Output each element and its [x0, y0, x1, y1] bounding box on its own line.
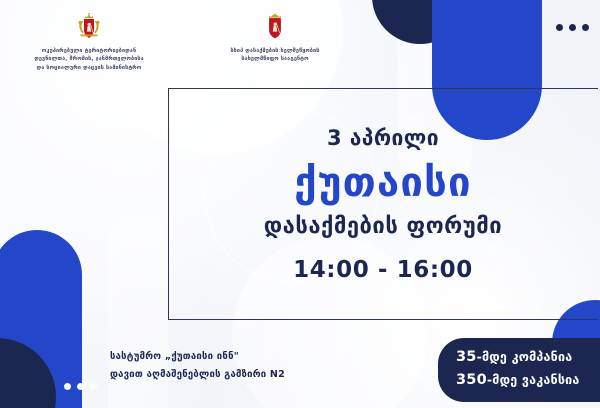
- event-time: 14:00 - 16:00: [293, 257, 473, 283]
- venue-street: დავით აღმაშენებლის გამზირი N2: [110, 366, 285, 384]
- dot: [582, 24, 589, 31]
- event-date: 3 აპრილი: [327, 126, 439, 150]
- vacancies-stat: 350-მდე ვაკანსია: [456, 369, 600, 392]
- stats-badge: 35-მდე კომპანია 350-მდე ვაკანსია: [438, 338, 600, 402]
- companies-label: -მდე კომპანია: [477, 349, 573, 364]
- three-dots-bottom-left-icon: [64, 383, 97, 390]
- ministry-name: ოკუპირებული ტერიტორიებიდან დევნილთა, შრო…: [14, 47, 164, 72]
- dot: [90, 383, 97, 390]
- ministry-name-line-3: და სოციალური დაცვის სამინისტრო: [14, 64, 164, 72]
- agency-name-line-2: სახელმწიფო სააგენტო: [200, 55, 350, 63]
- event-poster: ოკუპირებული ტერიტორიებიდან დევნილთა, შრო…: [0, 0, 600, 408]
- vacancies-label: -მდე ვაკანსია: [487, 372, 580, 387]
- three-dots-top-right-icon: [556, 24, 589, 31]
- dot: [64, 383, 71, 390]
- georgia-coat-of-arms-icon: [74, 12, 104, 42]
- venue-address: სასტუმრო „ქუთაისი ინნ" დავით აღმაშენებლი…: [110, 348, 285, 383]
- event-city: ქუთაისი: [294, 162, 472, 204]
- agency-logo-block: სსიპ დასაქმების ხელშეწყობის სახელმწიფო ს…: [200, 12, 350, 72]
- georgia-state-shield-icon: [264, 12, 286, 42]
- event-title: დასაქმების ფორუმი: [264, 214, 502, 239]
- agency-name-line-1: სსიპ დასაქმების ხელშეწყობის: [200, 47, 350, 55]
- venue-name: სასტუმრო „ქუთაისი ინნ": [110, 348, 285, 366]
- poster-main-copy: 3 აპრილი ქუთაისი დასაქმების ფორუმი 14:00…: [168, 88, 598, 320]
- companies-count: 35: [456, 349, 477, 365]
- dot: [569, 24, 576, 31]
- agency-name: სსიპ დასაქმების ხელშეწყობის სახელმწიფო ს…: [200, 47, 350, 64]
- ministry-name-line-2: დევნილთა, შრომის, ჯანმრთელობისა: [14, 55, 164, 63]
- vacancies-count: 350: [456, 372, 487, 388]
- dot: [556, 24, 563, 31]
- ministry-logo-block: ოკუპირებული ტერიტორიებიდან დევნილთა, შრო…: [14, 12, 164, 72]
- companies-stat: 35-მდე კომპანია: [456, 346, 600, 369]
- ministry-name-line-1: ოკუპირებული ტერიტორიებიდან: [14, 47, 164, 55]
- dot: [77, 383, 84, 390]
- header-logos: ოკუპირებული ტერიტორიებიდან დევნილთა, შრო…: [0, 0, 354, 72]
